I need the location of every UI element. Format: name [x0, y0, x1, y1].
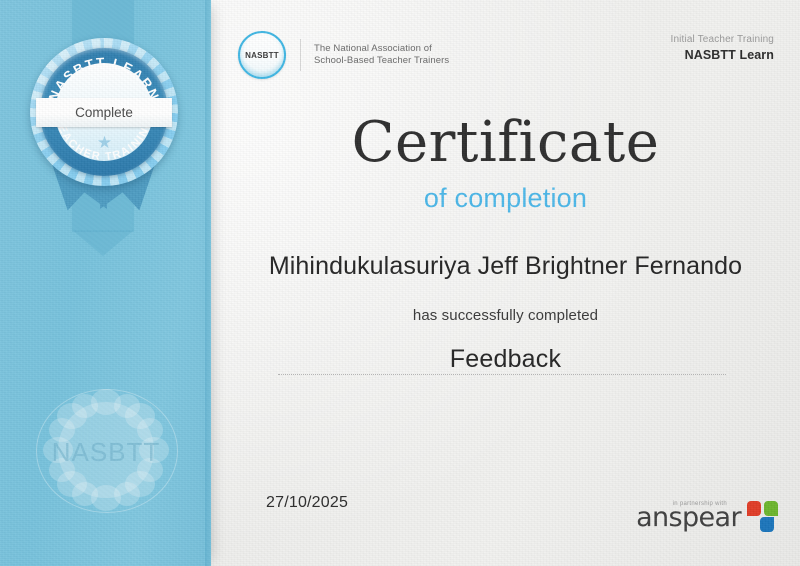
issue-date: 27/10/2025 [266, 494, 348, 512]
badge-banner-label: Complete [75, 105, 133, 120]
completion-badge: NASBTT LEARN TEACHER TRAINING Complete ★ [30, 38, 178, 186]
anspear-mark-icon [747, 501, 781, 535]
course-name: Feedback [211, 342, 800, 376]
star-icon: ★ [96, 134, 113, 151]
partner-label: in partnership with [673, 501, 727, 507]
completion-text: has successfully completed [211, 306, 800, 326]
page-subtitle: of completion [211, 181, 800, 215]
certificate-page: NASBTT LEARN TEACHER TRAINING Complete ★ [0, 0, 800, 566]
partner-name: anspear [636, 503, 741, 533]
recipient-name: Mihindukulasuriya Jeff Brightner Fernand… [211, 249, 800, 283]
petal-red [747, 501, 761, 516]
certificate-body: Certificate of completion Mihindukulasur… [211, 0, 800, 566]
nasbtt-watermark: NASBTT [32, 385, 180, 515]
dotted-divider [278, 374, 726, 376]
watermark-label: NASBTT [32, 437, 180, 468]
petal-blue [760, 517, 774, 532]
partner-logo: in partnership with anspear [636, 503, 781, 533]
page-title: Certificate [211, 112, 800, 174]
badge-banner: Complete [36, 98, 172, 127]
petal-green [764, 501, 778, 516]
